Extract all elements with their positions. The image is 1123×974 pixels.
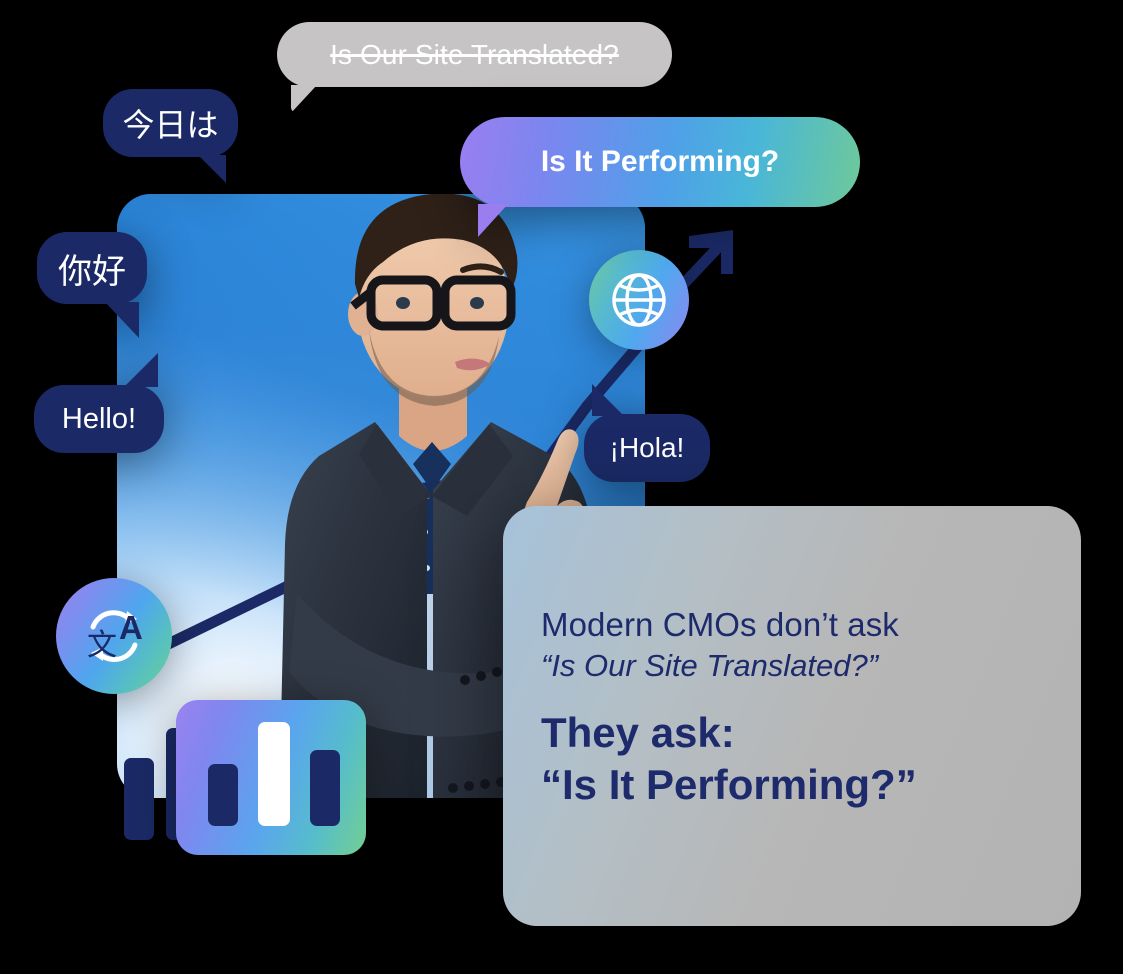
- bubble-tail: [124, 353, 158, 387]
- globe-badge: [589, 250, 689, 350]
- translate-icon: 文 A: [71, 593, 157, 679]
- hero-composition: 文 A Is Our Site Translated? Is It Perfor…: [0, 0, 1123, 974]
- bubble-japanese-greeting[interactable]: 今日は: [103, 89, 238, 157]
- bubble-is-it-performing[interactable]: Is It Performing?: [460, 117, 860, 207]
- bubble-english-greeting[interactable]: Hello!: [34, 385, 164, 453]
- bubble-chinese-greeting[interactable]: 你好: [37, 232, 147, 304]
- globe-icon: [607, 268, 671, 332]
- bar-outer-1: [124, 758, 154, 840]
- bubble-tail: [198, 155, 226, 183]
- message-line-4: “Is It Performing?”: [541, 760, 1081, 810]
- bar-1: [208, 764, 238, 826]
- bar-chart-badge: [124, 700, 366, 855]
- message-card: Modern CMOs don’t ask “Is Our Site Trans…: [503, 506, 1081, 926]
- bubble-tail: [291, 85, 317, 113]
- bubble-hola-label: ¡Hola!: [610, 432, 685, 464]
- bar-2-highlight: [258, 722, 290, 826]
- bubble-tail: [105, 302, 139, 338]
- bubble-nihao-label: 你好: [58, 244, 126, 293]
- bubble-performing-label: Is It Performing?: [541, 145, 779, 179]
- svg-text:文: 文: [87, 628, 117, 663]
- message-line-3: They ask:: [541, 708, 1081, 758]
- bar-3: [310, 750, 340, 826]
- bubble-konnichiwa-label: 今日は: [122, 100, 218, 146]
- message-line-2: “Is Our Site Translated?”: [541, 647, 1081, 686]
- bubble-spanish-greeting[interactable]: ¡Hola!: [584, 414, 710, 482]
- bubble-tail: [478, 204, 508, 237]
- svg-text:A: A: [119, 609, 143, 646]
- bubble-translated-label: Is Our Site Translated?: [330, 39, 619, 71]
- bubble-tail: [592, 384, 624, 416]
- bar-chart-card: [176, 700, 366, 855]
- message-line-1: Modern CMOs don’t ask: [541, 606, 1081, 645]
- bubble-hello-label: Hello!: [62, 403, 136, 436]
- translate-badge: 文 A: [56, 578, 172, 694]
- bubble-is-our-site-translated[interactable]: Is Our Site Translated?: [277, 22, 672, 87]
